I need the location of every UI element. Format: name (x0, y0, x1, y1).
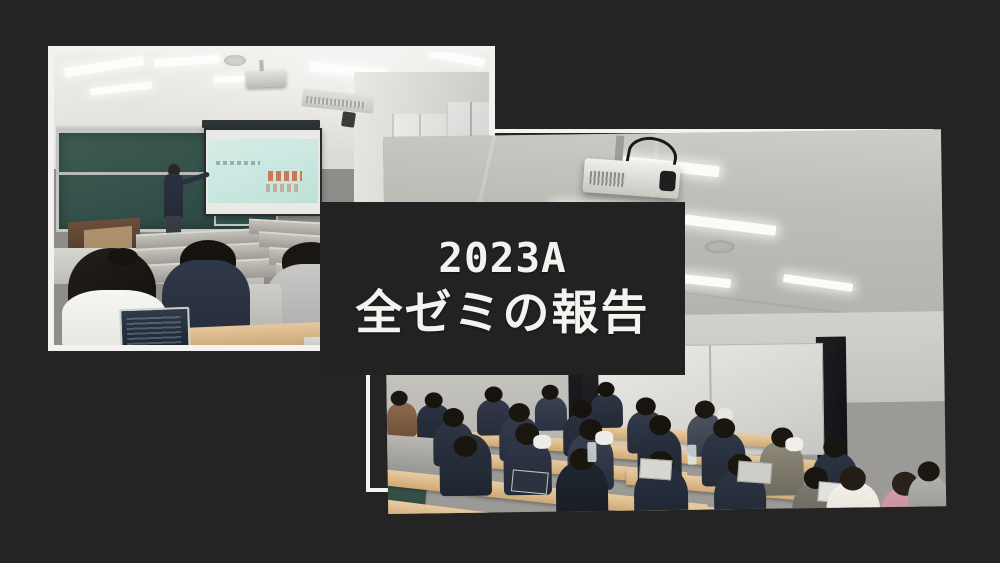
projection-screen-case (202, 120, 320, 128)
laptop-screen (126, 314, 181, 345)
ceiling-projector (246, 69, 287, 87)
slide-text-line (216, 161, 260, 165)
slide-title-text (268, 171, 302, 181)
slide-subtitle-text (266, 184, 298, 192)
water-bottle (687, 445, 696, 465)
student-body (387, 403, 417, 437)
laptop (119, 307, 191, 345)
title-term-label: 2023A (438, 235, 566, 282)
water-bottle (587, 442, 596, 462)
slide-canvas: 2023A 全ゼミの報告 (0, 0, 1000, 563)
projection-screen (204, 128, 322, 216)
water-bottle (866, 512, 877, 514)
face-mask (595, 431, 613, 445)
student-body (535, 396, 567, 430)
face-mask (533, 435, 551, 449)
laptop (639, 458, 672, 480)
wall-speaker (341, 111, 356, 128)
projector-lens (659, 170, 676, 191)
projector-vent-grill (589, 171, 626, 188)
projection-screen-slide (208, 139, 318, 203)
title-main-heading: 全ゼミの報告 (356, 286, 650, 342)
laptop (511, 469, 549, 494)
presenter-body (164, 174, 183, 218)
hair-tie (108, 248, 138, 266)
ceiling-vent (224, 55, 246, 66)
title-overlay-box: 2023A 全ゼミの報告 (320, 202, 685, 375)
laptop (737, 461, 772, 484)
face-mask (785, 437, 803, 451)
